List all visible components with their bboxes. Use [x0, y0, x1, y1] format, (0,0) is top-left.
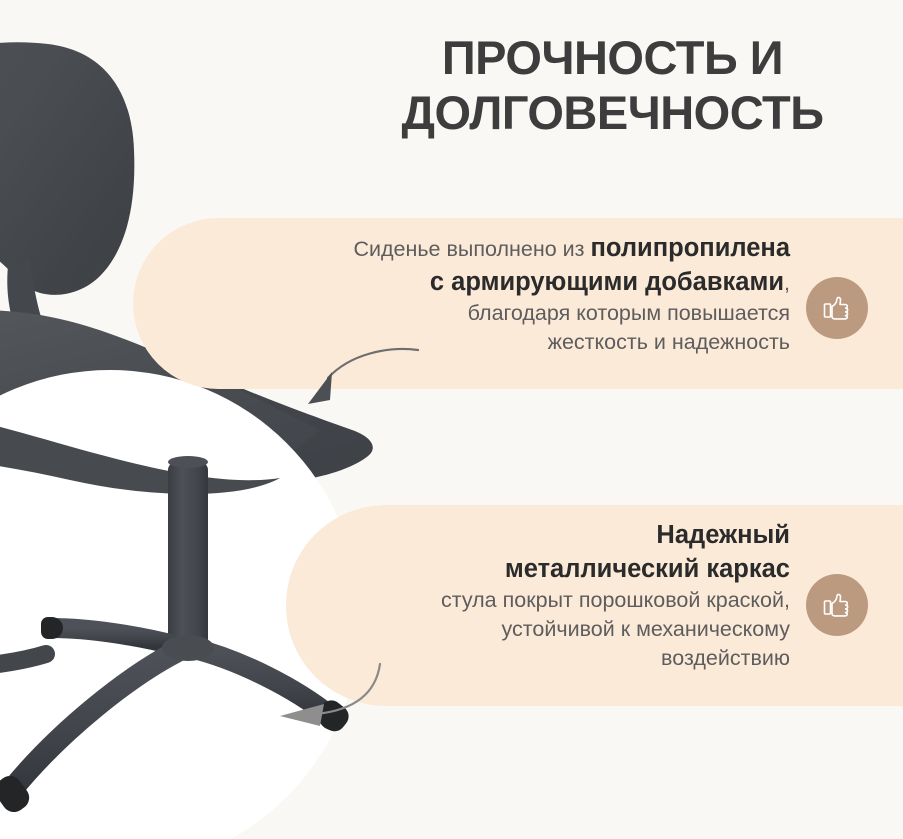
chair-backrest — [0, 42, 134, 330]
panel-2-text: Надежный металлический каркас стула покр… — [300, 518, 790, 673]
panel-1-text: Сиденье выполнено из полипропилена с арм… — [150, 231, 790, 357]
panel-2-line-2: металлический каркас — [300, 552, 790, 586]
panel-1-line-2: с армирующими добавками, — [150, 265, 790, 299]
title-line-2: ДОЛГОВЕЧНОСТЬ — [340, 85, 885, 140]
page-title: ПРОЧНОСТЬ И ДОЛГОВЕЧНОСТЬ — [340, 30, 885, 141]
chair-center-post — [168, 456, 208, 652]
panel-1-line-3: благодаря которым повышается — [150, 299, 790, 328]
panel-1-line-4: жесткость и надежность — [150, 328, 790, 357]
panel-2-line-1: Надежный — [300, 518, 790, 552]
panel-1-line-1: Сиденье выполнено из полипропилена — [150, 231, 790, 265]
panel-2-line-4: устойчивой к механическому — [300, 615, 790, 644]
thumbs-up-icon — [820, 588, 854, 622]
thumbs-up-badge-1 — [806, 277, 868, 339]
thumbs-up-badge-2 — [806, 574, 868, 636]
thumbs-up-icon — [820, 291, 854, 325]
panel-2-line-3: стула покрыт порошковой краской, — [300, 586, 790, 615]
panel-2-line-5: воздействию — [300, 644, 790, 673]
title-line-1: ПРОЧНОСТЬ И — [340, 30, 885, 85]
promo-banner: Сиденье выполнено из полипропилена с арм… — [0, 0, 903, 839]
